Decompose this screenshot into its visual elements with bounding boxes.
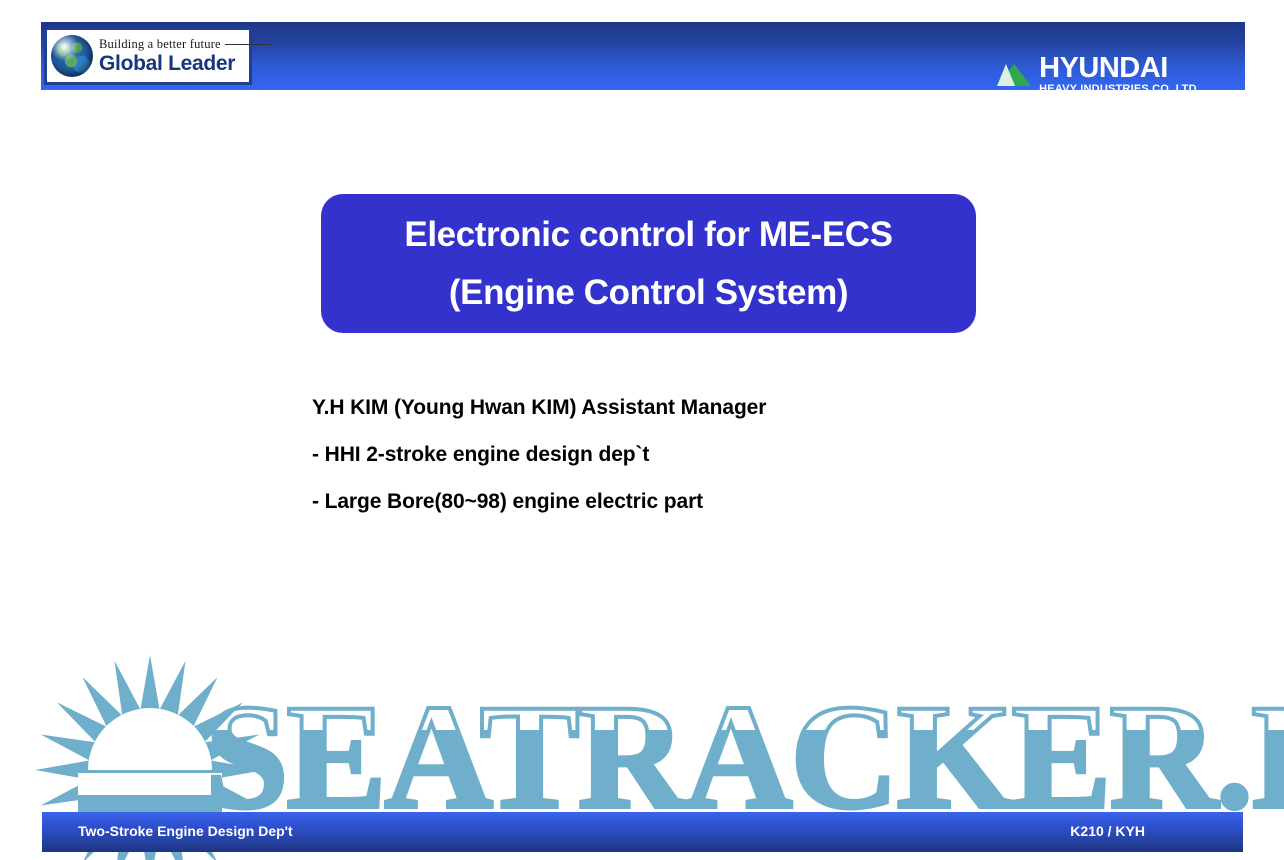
logo-text-group: Building a better future Global Leader: [99, 38, 271, 75]
hyundai-subtitle: HEAVY INDUSTRIES CO.,LTD.: [1039, 84, 1200, 95]
hyundai-triangle-icon: [997, 64, 1031, 86]
logo-tagline-row: Building a better future: [99, 38, 271, 51]
hyundai-brand-mark: HYUNDAI HEAVY INDUSTRIES CO.,LTD.: [997, 54, 1200, 95]
globe-icon: [51, 35, 93, 77]
footer-code-label: K210 / KYH: [1070, 823, 1145, 839]
presenter-name-line: Y.H KIM (Young Hwan KIM) Assistant Manag…: [312, 396, 1012, 420]
slide-title-line-2: (Engine Control System): [449, 273, 848, 313]
logo-tagline: Building a better future: [99, 38, 221, 51]
hyundai-name: HYUNDAI: [1039, 54, 1200, 83]
footer-bar: Two-Stroke Engine Design Dep't K210 / KY…: [42, 812, 1243, 852]
logo-name: Global Leader: [99, 53, 271, 74]
global-leader-logo: Building a better future Global Leader: [44, 27, 252, 85]
slide-title-box: Electronic control for ME-ECS (Engine Co…: [321, 194, 976, 333]
footer-department-label: Two-Stroke Engine Design Dep't: [78, 823, 293, 839]
presenter-info-block: Y.H KIM (Young Hwan KIM) Assistant Manag…: [312, 396, 1012, 537]
presenter-dept-line: - HHI 2-stroke engine design dep`t: [312, 443, 1012, 467]
presenter-scope-line: - Large Bore(80~98) engine electric part: [312, 490, 1012, 514]
hyundai-wordmark: HYUNDAI HEAVY INDUSTRIES CO.,LTD.: [1039, 54, 1200, 95]
slide-title-line-1: Electronic control for ME-ECS: [404, 215, 892, 255]
slide-canvas: HYUNDAI HEAVY INDUSTRIES CO.,LTD. Buildi…: [0, 0, 1284, 860]
logo-rule-divider: [225, 44, 271, 45]
